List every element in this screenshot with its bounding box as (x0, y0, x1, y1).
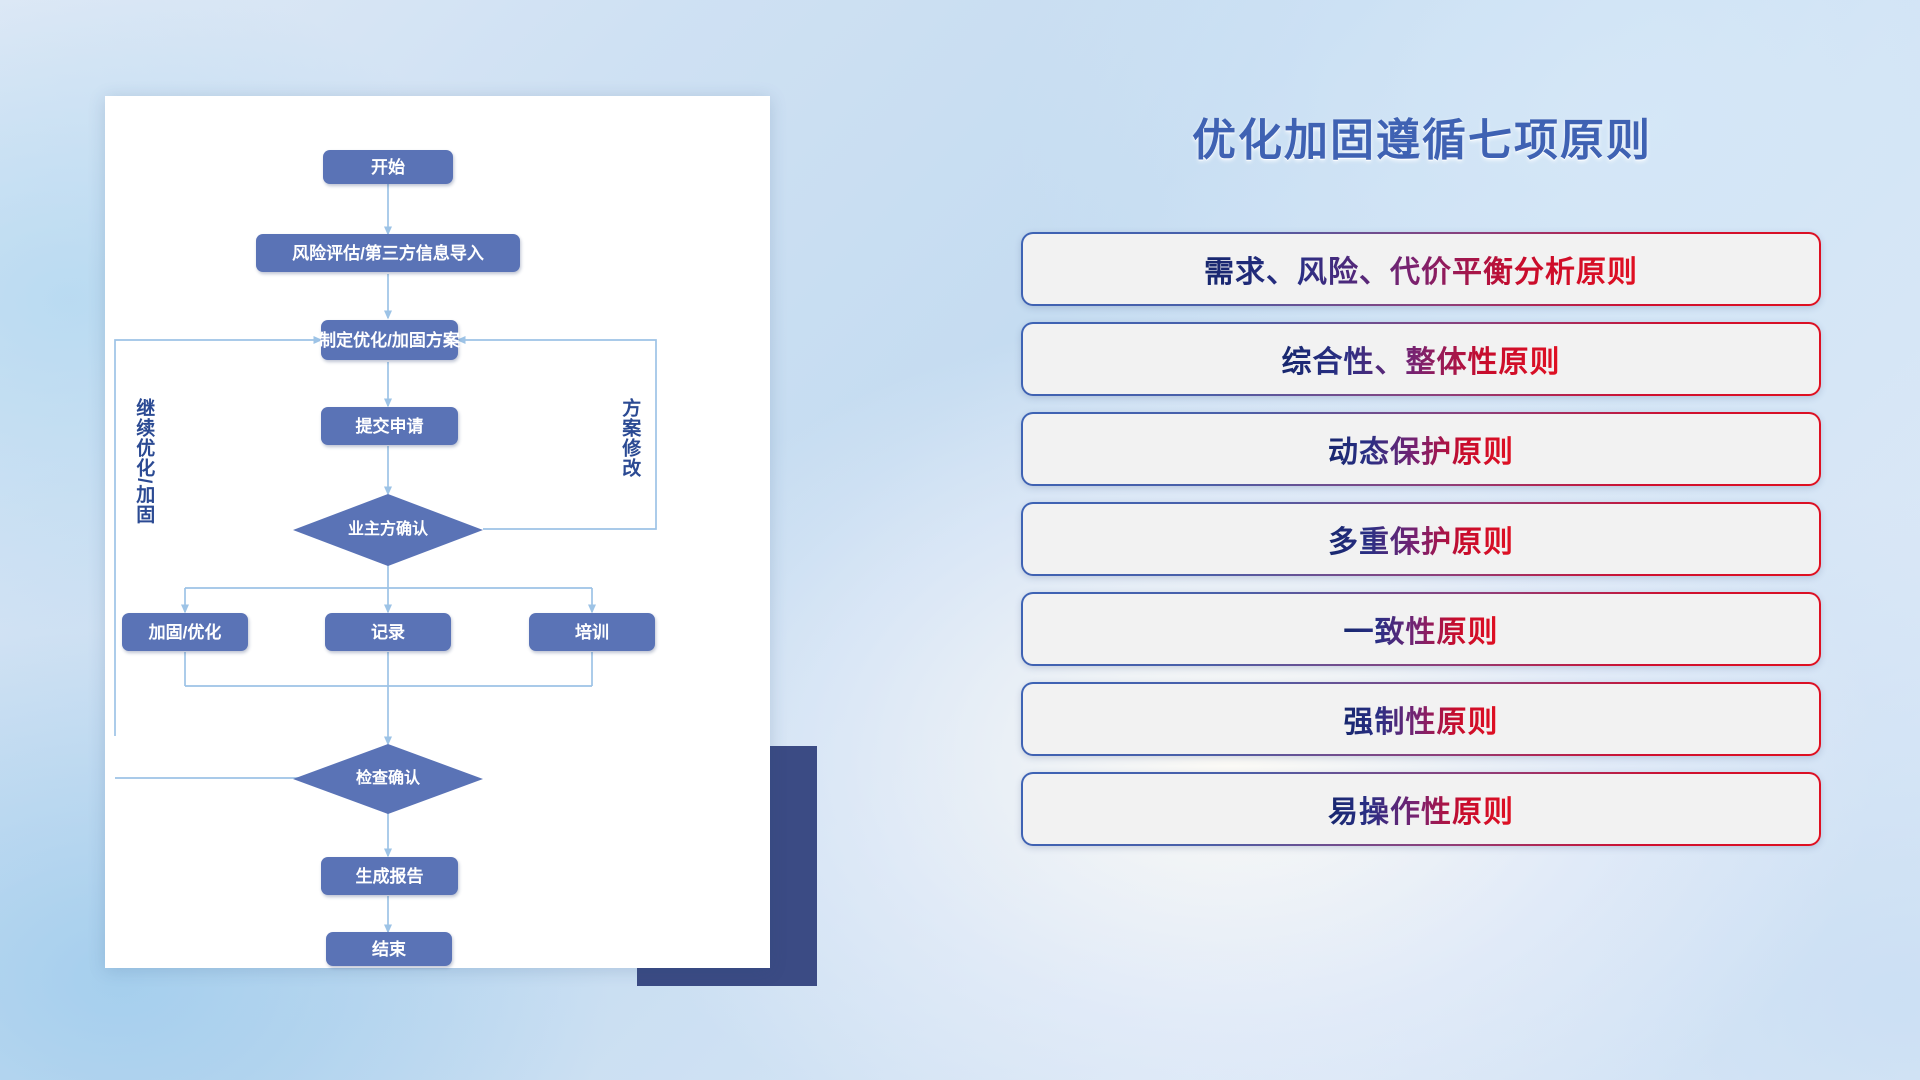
flow-side-label-left-loop: 继续优化/加固 (133, 398, 154, 524)
principles-list: 需求、风险、代价平衡分析原则 综合性、整体性原则 动态保护原则 多重保护原则 一… (1021, 232, 1821, 862)
principle-card-inner: 动态保护原则 (1023, 414, 1819, 484)
flowchart-card: 开始 风险评估/第三方信息导入 制定优化/加固方案 提交申请 业主方确认 加固/… (105, 96, 770, 968)
principle-card-4[interactable]: 多重保护原则 (1021, 502, 1821, 576)
flow-node-report[interactable]: 生成报告 (321, 857, 458, 895)
principle-label-6: 强制性原则 (1344, 697, 1499, 741)
principle-label-1: 需求、风险、代价平衡分析原则 (1204, 247, 1638, 291)
principle-card-inner: 一致性原则 (1023, 594, 1819, 664)
flow-node-record[interactable]: 记录 (325, 613, 451, 651)
flow-node-reinforce[interactable]: 加固/优化 (122, 613, 248, 651)
principle-label-2: 综合性、整体性原则 (1282, 337, 1561, 381)
flow-node-risk-assessment-label: 风险评估/第三方信息导入 (292, 245, 484, 262)
flow-node-submit[interactable]: 提交申请 (321, 407, 458, 445)
flow-node-plan[interactable]: 制定优化/加固方案 (321, 320, 458, 360)
flow-node-owner-confirm-label: 业主方确认 (348, 522, 428, 538)
principle-label-3: 动态保护原则 (1328, 427, 1514, 471)
principle-label-4: 多重保护原则 (1328, 517, 1514, 561)
principle-card-5[interactable]: 一致性原则 (1021, 592, 1821, 666)
principles-panel: 优化加固遵循七项原则 需求、风险、代价平衡分析原则 综合性、整体性原则 动态保护… (1000, 0, 1920, 1080)
principle-card-inner: 综合性、整体性原则 (1023, 324, 1819, 394)
principle-label-5: 一致性原则 (1344, 607, 1499, 651)
principle-card-inner: 强制性原则 (1023, 684, 1819, 754)
flow-node-check-confirm[interactable]: 检查确认 (293, 744, 483, 814)
principle-card-3[interactable]: 动态保护原则 (1021, 412, 1821, 486)
flow-side-label-right-loop: 方案修改 (619, 398, 640, 478)
flow-node-check-confirm-label: 检查确认 (356, 771, 420, 787)
flow-node-record-label: 记录 (371, 624, 405, 641)
principle-label-7: 易操作性原则 (1328, 787, 1514, 831)
flowchart-canvas: 开始 风险评估/第三方信息导入 制定优化/加固方案 提交申请 业主方确认 加固/… (105, 96, 770, 968)
flow-node-owner-confirm[interactable]: 业主方确认 (293, 494, 483, 566)
flow-node-start-label: 开始 (371, 159, 405, 176)
flow-node-end-label: 结束 (372, 941, 406, 958)
flow-node-risk-assessment[interactable]: 风险评估/第三方信息导入 (256, 234, 520, 272)
flow-node-report-label: 生成报告 (356, 868, 424, 885)
flow-node-submit-label: 提交申请 (356, 418, 424, 435)
principle-card-2[interactable]: 综合性、整体性原则 (1021, 322, 1821, 396)
page-title: 优化加固遵循七项原则 (1000, 104, 1844, 168)
flow-node-reinforce-label: 加固/优化 (149, 624, 222, 641)
flow-node-end[interactable]: 结束 (326, 932, 452, 966)
flow-node-start[interactable]: 开始 (323, 150, 453, 184)
principle-card-6[interactable]: 强制性原则 (1021, 682, 1821, 756)
principle-card-1[interactable]: 需求、风险、代价平衡分析原则 (1021, 232, 1821, 306)
principle-card-inner: 多重保护原则 (1023, 504, 1819, 574)
flow-node-plan-label: 制定优化/加固方案 (319, 332, 460, 349)
principle-card-inner: 需求、风险、代价平衡分析原则 (1023, 234, 1819, 304)
principle-card-7[interactable]: 易操作性原则 (1021, 772, 1821, 846)
flow-node-training-label: 培训 (575, 624, 609, 641)
principle-card-inner: 易操作性原则 (1023, 774, 1819, 844)
flow-node-training[interactable]: 培训 (529, 613, 655, 651)
